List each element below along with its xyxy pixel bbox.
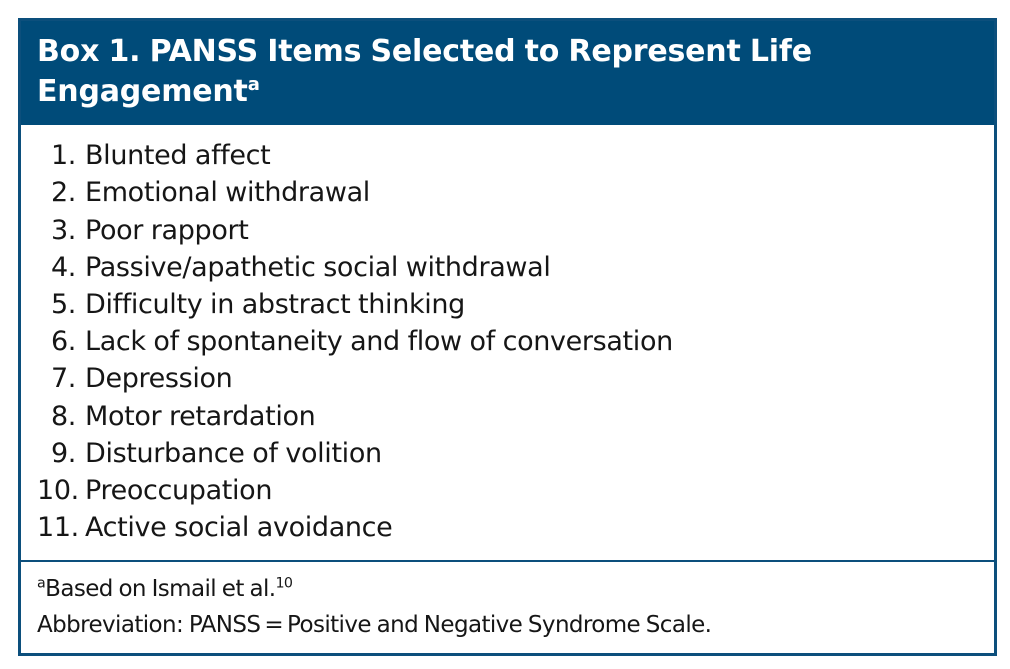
list-item-number: 10. [37, 472, 85, 509]
list-item: 3. Poor rapport [37, 212, 978, 249]
box-title: Box 1. PANSS Items Selected to Represent… [37, 32, 978, 111]
list-item-number: 3. [37, 212, 85, 249]
list-item: 7. Depression [37, 360, 978, 397]
list-item-label: Preoccupation [85, 472, 272, 509]
list-item-label: Active social avoidance [85, 509, 392, 546]
list-item-number: 11. [37, 509, 85, 546]
list-item: 8. Motor retardation [37, 398, 978, 435]
list-item: 1. Blunted affect [37, 137, 978, 174]
list-item-label: Poor rapport [85, 212, 248, 249]
panss-item-list: 1. Blunted affect 2. Emotional withdrawa… [37, 137, 978, 546]
footnote-abbreviation: Abbreviation: PANSS = Positive and Negat… [37, 607, 978, 643]
box-footnotes: aBased on Ismail et al.10 Abbreviation: … [21, 562, 994, 653]
list-item-label: Motor retardation [85, 398, 315, 435]
list-item-label: Depression [85, 360, 232, 397]
list-item: 11. Active social avoidance [37, 509, 978, 546]
list-item-number: 7. [37, 360, 85, 397]
list-item: 2. Emotional withdrawal [37, 174, 978, 211]
box-title-line-2: Engagement [37, 74, 248, 109]
list-item-number: 4. [37, 249, 85, 286]
list-item: 9. Disturbance of volition [37, 435, 978, 472]
list-item-label: Blunted affect [85, 137, 270, 174]
list-item-number: 9. [37, 435, 85, 472]
box-body: 1. Blunted affect 2. Emotional withdrawa… [21, 125, 994, 560]
list-item-label: Emotional withdrawal [85, 174, 370, 211]
list-item: 6. Lack of spontaneity and flow of conve… [37, 323, 978, 360]
list-item: 10. Preoccupation [37, 472, 978, 509]
list-item-label: Passive/apathetic social withdrawal [85, 249, 551, 286]
list-item-number: 5. [37, 286, 85, 323]
footnote-marker: a [37, 576, 45, 592]
list-item: 5. Difficulty in abstract thinking [37, 286, 978, 323]
box-figure: Box 1. PANSS Items Selected to Represent… [18, 18, 997, 656]
list-item-label: Difficulty in abstract thinking [85, 286, 465, 323]
list-item-number: 1. [37, 137, 85, 174]
box-title-footnote-marker: a [248, 74, 260, 95]
list-item-number: 6. [37, 323, 85, 360]
list-item-number: 8. [37, 398, 85, 435]
list-item-label: Disturbance of volition [85, 435, 382, 472]
footnote-source-text: Based on Ismail et al. [45, 576, 275, 602]
footnote-source: aBased on Ismail et al.10 [37, 571, 978, 607]
list-item-label: Lack of spontaneity and flow of conversa… [85, 323, 673, 360]
footnote-reference-number: 10 [275, 576, 292, 592]
list-item: 4. Passive/apathetic social withdrawal [37, 249, 978, 286]
list-item-number: 2. [37, 174, 85, 211]
box-title-line-1: Box 1. PANSS Items Selected to Represent… [37, 34, 812, 69]
box-header: Box 1. PANSS Items Selected to Represent… [21, 21, 994, 125]
